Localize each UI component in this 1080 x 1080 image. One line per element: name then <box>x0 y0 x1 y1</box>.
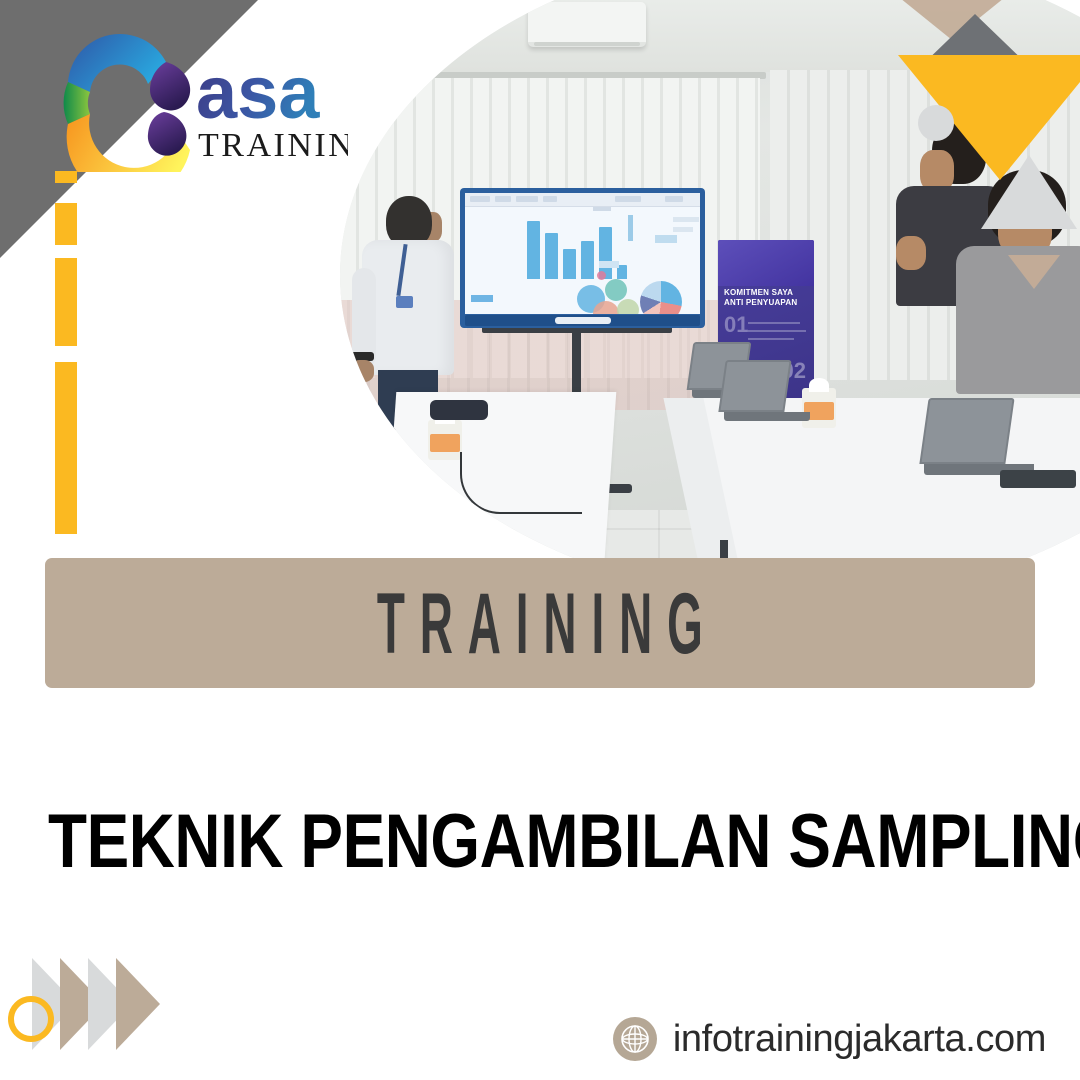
logo-teardrop-bottom <box>148 112 187 156</box>
light-gray-circle <box>918 105 954 141</box>
website-footer[interactable]: infotrainingjakarta.com <box>613 1008 1046 1070</box>
logo-wordmark: asa <box>196 51 320 134</box>
page-title-text: TEKNIK PENGAMBILAN SAMPLING <box>48 798 888 885</box>
bar-chart <box>527 221 623 279</box>
rollup-line1: KOMITMEN SAYA <box>724 288 808 298</box>
rollup-line2: ANTI PENYUAPAN <box>724 298 808 308</box>
app-ribbon <box>465 193 700 207</box>
training-banner-label: TRAINING <box>362 574 718 673</box>
pie-chart <box>640 281 682 314</box>
cable <box>460 452 582 514</box>
tissue-box-right <box>802 388 836 428</box>
yellow-bar-1 <box>55 171 77 183</box>
light-gray-triangle <box>981 155 1077 229</box>
laptop-2 <box>722 360 806 426</box>
presentation-screen <box>460 188 705 328</box>
phone-on-table <box>1000 470 1076 488</box>
screen-control-bar <box>465 315 700 326</box>
globe-icon <box>613 1017 657 1061</box>
website-url[interactable]: infotrainingjakarta.com <box>673 1018 1046 1061</box>
yellow-bar-3 <box>55 258 77 346</box>
poster-canvas: KOMITMEN SAYA ANTI PENYUAPAN 01 02 <box>0 0 1080 1080</box>
arrow-4 <box>116 958 160 1050</box>
rollup-num-1: 01 <box>724 312 748 338</box>
tissue-box-left <box>428 420 462 460</box>
tan-triangle-small <box>1008 255 1060 289</box>
yellow-bar-2 <box>55 203 77 245</box>
training-banner: TRAINING <box>45 558 1035 688</box>
yellow-ring <box>8 996 54 1042</box>
logo-subtext: TRAINING <box>198 127 348 164</box>
page-title: TEKNIK PENGAMBILAN SAMPLING <box>48 798 1048 885</box>
bag <box>430 400 488 420</box>
laptop-3 <box>924 398 1030 480</box>
yellow-bar-4 <box>55 362 77 534</box>
arrow-group <box>32 958 192 1050</box>
air-conditioner <box>528 2 646 47</box>
asa-training-logo: asa TRAINING <box>38 22 348 172</box>
logo-svg: asa TRAINING <box>38 22 348 172</box>
